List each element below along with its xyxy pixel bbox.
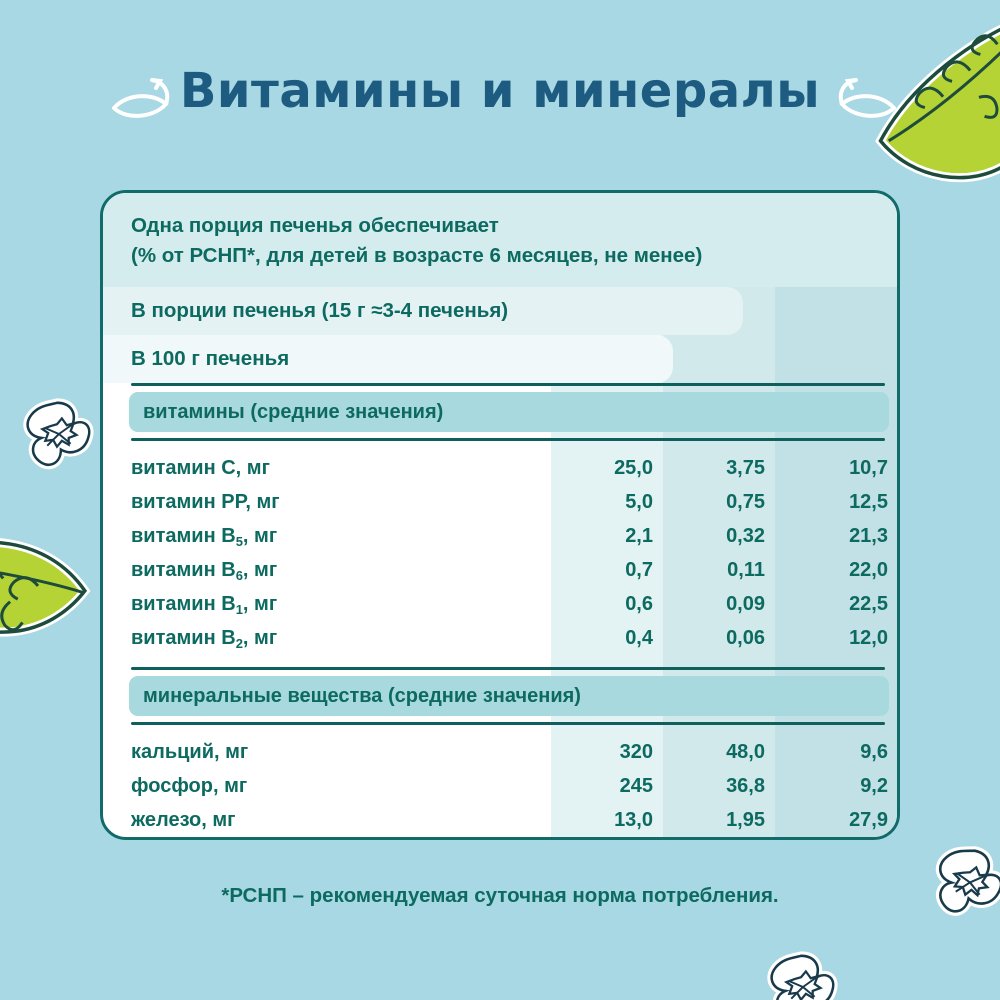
table-row: кальций, мг 320 48,0 9,6 [103,735,897,769]
row-value-portion: 245 [551,775,653,798]
row-label: витамин B1, мг [103,593,523,616]
section-heading-vitamins: витамины (средние значения) [129,392,889,432]
section-vitamins: витамины (средние значения) витамин C, м… [103,383,897,655]
table-row: витамин C, мг 25,0 3,75 10,7 [103,451,897,485]
row-value-per100g: 0,06 [663,627,765,650]
column-header-per100g-label: В 100 г печенья [131,347,289,371]
row-label: фосфор, мг [103,775,523,798]
column-header-portion: В порции печенья (15 г ≈3-4 печенья) [103,287,743,335]
row-value-per100g: 48,0 [663,741,765,764]
row-value-per100g: 3,75 [663,457,765,480]
row-label: витамин PP, мг [103,491,523,514]
vitamins-rows: витамин C, мг 25,0 3,75 10,7 витамин PP,… [103,451,897,655]
header-line-1: Одна порция печенья обеспечивает [131,211,897,241]
row-value-percent: 22,5 [775,593,888,616]
row-value-portion: 320 [551,741,653,764]
row-value-per100g: 36,8 [663,775,765,798]
column-header-per100g: В 100 г печенья [103,335,673,383]
nutrition-card: Одна порция печенья обеспечивает (% от Р… [100,190,900,840]
row-label: железо, мг [103,809,523,832]
row-value-per100g: 0,11 [663,559,765,582]
footnote: *РСНП – рекомендуемая суточная норма пот… [0,884,1000,908]
minerals-rows: кальций, мг 320 48,0 9,6 фосфор, мг 245 … [103,735,897,840]
section-heading-vitamins-label: витамины (средние значения) [143,401,443,424]
section-heading-minerals-label: минеральные вещества (средние значения) [143,685,581,708]
row-value-percent: 9,2 [775,775,888,798]
row-label: витамин B5, мг [103,525,523,548]
row-value-percent: 12,5 [775,491,888,514]
row-value-portion: 25,0 [551,457,653,480]
row-value-percent: 10,7 [775,457,888,480]
card-header: Одна порция печенья обеспечивает (% от Р… [103,193,897,287]
row-value-per100g: 0,09 [663,593,765,616]
section-rule-bottom [131,722,885,725]
flower-right-icon [921,835,1000,930]
row-value-portion: 2,1 [551,525,653,548]
row-value-per100g: 0,75 [663,491,765,514]
table-row: витамин PP, мг 5,0 0,75 12,5 [103,485,897,519]
row-value-percent: 22,0 [775,559,888,582]
row-value-portion: 0,4 [551,627,653,650]
table-row: фосфор, мг 245 36,8 9,2 [103,769,897,803]
row-value-percent: 27,9 [775,809,888,832]
leaf-left-icon [0,472,114,688]
row-value-percent: 12,0 [775,627,888,650]
row-label: витамин B6, мг [103,559,523,582]
section-minerals: минеральные вещества (средние значения) … [103,667,897,840]
page-title: Витамины и минералы [0,63,1000,119]
header-line-2: (% от РСНП*, для детей в возрасте 6 меся… [131,241,897,271]
table-row: витамин B2, мг 0,4 0,06 12,0 [103,621,897,655]
section-rule-bottom [131,438,885,441]
row-label: витамин C, мг [103,457,523,480]
section-heading-minerals: минеральные вещества (средние значения) [129,676,889,716]
row-value-per100g: 0,32 [663,525,765,548]
row-value-portion: 13,0 [551,809,653,832]
row-value-portion: 0,7 [551,559,653,582]
table-row: витамин B6, мг 0,7 0,11 22,0 [103,553,897,587]
table-row: цинк, мг 8,0 1,20 40,0 [103,837,897,840]
row-value-percent: 21,3 [775,525,888,548]
table-row: железо, мг 13,0 1,95 27,9 [103,803,897,837]
table-row: витамин B5, мг 2,1 0,32 21,3 [103,519,897,553]
row-value-portion: 5,0 [551,491,653,514]
section-rule-top [131,667,885,670]
section-rule-top [131,383,885,386]
row-value-portion: 0,6 [551,593,653,616]
row-value-percent: 9,6 [775,741,888,764]
row-value-per100g: 1,95 [663,809,765,832]
flower-bottom-icon [762,948,840,1000]
column-header-portion-label: В порции печенья (15 г ≈3-4 печенья) [131,299,508,323]
row-label: витамин B2, мг [103,627,523,650]
row-label: кальций, мг [103,741,523,764]
table-row: витамин B1, мг 0,6 0,09 22,5 [103,587,897,621]
flower-left-icon [18,395,96,473]
